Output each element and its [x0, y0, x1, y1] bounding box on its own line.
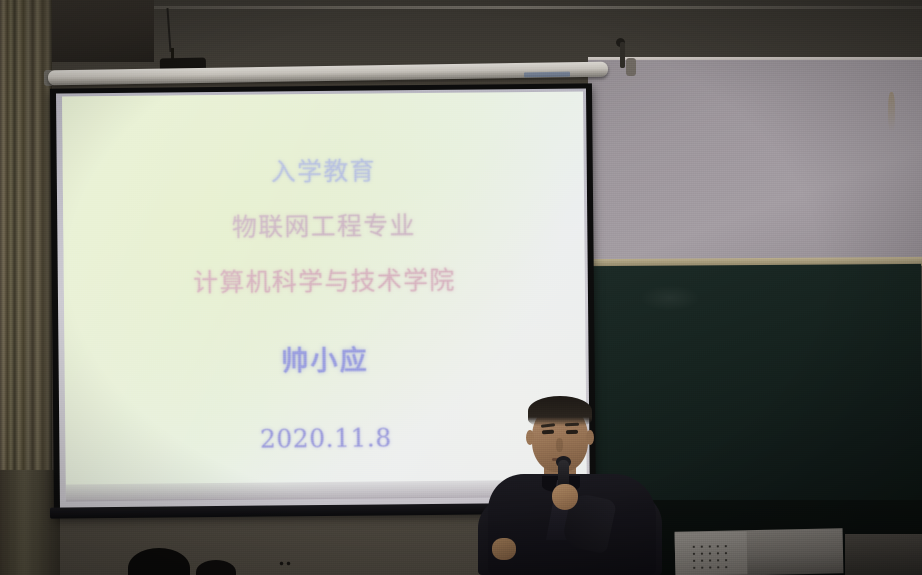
presenter-right-eye — [566, 430, 578, 434]
slide-major-line: 物联网工程专业 — [63, 204, 584, 245]
slide-college-line: 计算机科学与技术学院 — [64, 259, 585, 300]
desk-objects — [278, 560, 292, 566]
classroom-photo: 入学教育 物联网工程专业 计算机科学与技术学院 帅小应 2020.11.8 — [0, 0, 922, 575]
wall-bracket — [626, 58, 636, 76]
ceiling-edge-line — [110, 6, 922, 9]
curtain-lower-fold — [0, 470, 60, 575]
wall-hook-rod — [620, 42, 625, 68]
slide-title-line: 入学教育 — [63, 149, 584, 190]
presenter-nose — [556, 438, 563, 452]
right-wall — [588, 60, 922, 265]
chalk-smudge — [640, 285, 700, 311]
presenter-hand — [552, 484, 578, 510]
presenter-right-ear — [586, 430, 594, 445]
wall-stain — [888, 92, 895, 132]
presenter-hair — [528, 396, 592, 426]
presenter-other-hand — [492, 538, 516, 560]
slide-presenter-name: 帅小应 — [64, 336, 585, 380]
presenter-left-ear — [526, 430, 534, 445]
roller-brand-label — [524, 72, 570, 78]
presenter-right-eyebrow — [565, 423, 579, 426]
presenter-left-eye — [542, 430, 554, 435]
presenter — [470, 388, 680, 575]
speaker-side-panel — [845, 534, 922, 575]
speaker-grille-icon — [690, 543, 731, 570]
